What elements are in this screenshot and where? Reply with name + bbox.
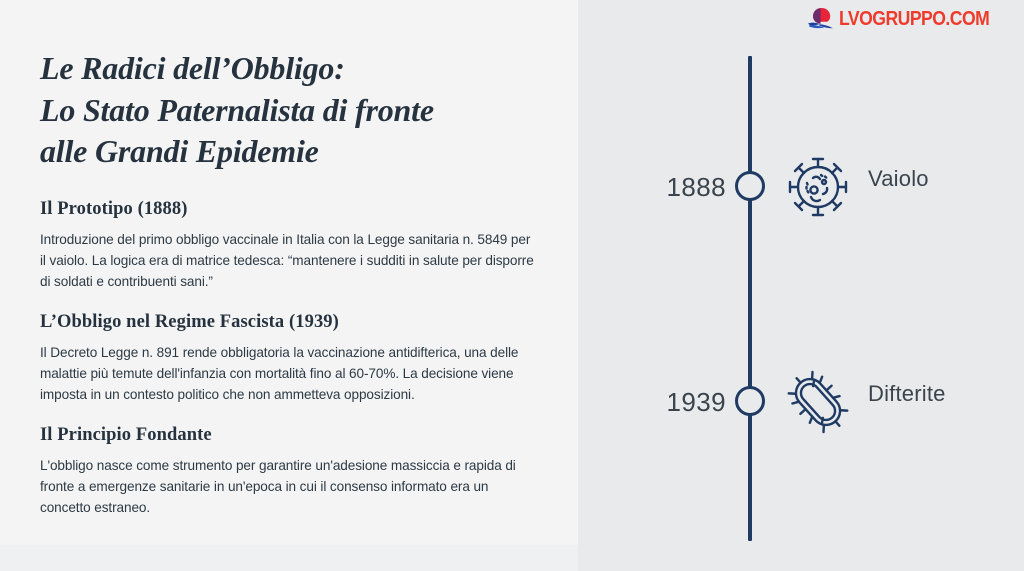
section-il-prototipo: Il Prototipo (1888) Introduzione del pri… bbox=[40, 199, 538, 292]
timeline-node-marker bbox=[735, 171, 765, 201]
section-principio-fondante: Il Principio Fondante L'obbligo nasce co… bbox=[40, 425, 538, 518]
bottom-tone-band bbox=[0, 545, 578, 571]
timeline-entry-label: Difterite bbox=[868, 381, 946, 407]
timeline-entry-label: Vaiolo bbox=[868, 166, 929, 192]
wave-dome-logo-icon bbox=[807, 6, 837, 32]
timeline-node-marker bbox=[735, 386, 765, 416]
timeline-panel: 1888 bbox=[578, 0, 1024, 571]
section-body: L'obbligo nasce come strumento per garan… bbox=[40, 455, 538, 518]
section-obbligo-regime-fascista: L’Obbligo nel Regime Fascista (1939) Il … bbox=[40, 312, 538, 405]
section-body: Il Decreto Legge n. 891 rende obbligator… bbox=[40, 342, 538, 405]
section-heading: L’Obbligo nel Regime Fascista (1939) bbox=[40, 312, 538, 333]
timeline-entry-1888: 1888 bbox=[578, 142, 1024, 232]
virus-icon bbox=[783, 152, 853, 222]
timeline-entry-1939: 1939 bbox=[578, 357, 1024, 447]
timeline-axis-line bbox=[748, 56, 752, 541]
brand-logo[interactable]: LVOGRUPPO.COM bbox=[807, 6, 1010, 32]
timeline-year-label: 1888 bbox=[578, 172, 726, 203]
content-panel: Le Radici dell’Obbligo: Lo Stato Paterna… bbox=[0, 0, 578, 571]
bacterium-icon bbox=[783, 367, 853, 437]
brand-name: LVOGRUPPO.COM bbox=[839, 8, 989, 31]
section-heading: Il Prototipo (1888) bbox=[40, 199, 538, 220]
timeline-year-label: 1939 bbox=[578, 387, 726, 418]
slide-root: Le Radici dell’Obbligo: Lo Stato Paterna… bbox=[0, 0, 1024, 571]
page-title: Le Radici dell’Obbligo: Lo Stato Paterna… bbox=[40, 48, 538, 173]
section-heading: Il Principio Fondante bbox=[40, 425, 538, 446]
section-body: Introduzione del primo obbligo vaccinale… bbox=[40, 229, 538, 292]
